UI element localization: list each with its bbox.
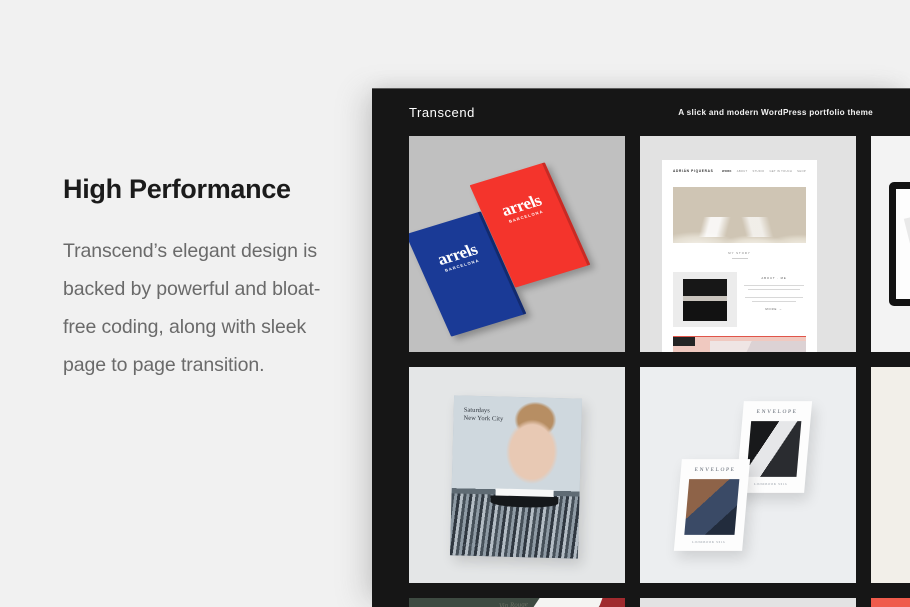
brand-logo[interactable]: Transcend (409, 105, 475, 120)
mockup-video-section (673, 336, 806, 352)
page-title: High Performance (63, 175, 333, 205)
portfolio-card-plain-light[interactable] (640, 598, 856, 607)
portfolio-grid: arrelsBARCELONA arrelsBARCELONA ADRIÁN P… (409, 136, 910, 607)
mockup-text-line (748, 289, 800, 290)
promo-text-block: High Performance Transcend’s elegant des… (63, 175, 333, 385)
poster-image-front (684, 479, 739, 535)
portfolio-card-coral-block[interactable] (871, 598, 910, 607)
promo-column: High Performance Transcend’s elegant des… (0, 0, 372, 607)
mockup-text-line (752, 301, 796, 302)
portfolio-card-magazine-cover[interactable]: SaturdaysNew York City Spring 2015 (409, 367, 625, 583)
mockup-hero-image (673, 187, 806, 243)
book-logo-blue: arrelsBARCELONA (416, 235, 501, 279)
mockup-text-line (745, 297, 803, 298)
mockup-nav-item-studio: STUDIO (753, 170, 765, 173)
monitor-screen (896, 189, 910, 299)
mockup-nav-item-shop: SHOP (797, 170, 806, 173)
portfolio-card-envelope-posters[interactable]: ENVELOPE LOOKBOOK SS16 ENVELOPE LOOKBOOK… (640, 367, 856, 583)
book-logo-red: arrelsBARCELONA (480, 186, 565, 230)
magazine-collar (495, 488, 553, 506)
showcase-header: Transcend A slick and modern WordPress p… (372, 88, 910, 136)
book-sublabel-red: BARCELONA (488, 203, 565, 230)
portfolio-showcase-panel: Transcend A slick and modern WordPress p… (372, 88, 910, 607)
coral-accent-block (871, 598, 910, 607)
portfolio-card-arrels-books[interactable]: arrelsBARCELONA arrelsBARCELONA (409, 136, 625, 352)
mockup-section-heading: ABOUT · ME (744, 276, 804, 280)
mockup-nav-item-contact: GET IN TOUCH (769, 170, 792, 173)
mockup-logo: ADRIÁN PIQUERAS (673, 169, 713, 173)
portfolio-card-monitor-mockup[interactable] (871, 136, 910, 352)
poster-image-back (746, 421, 801, 477)
flag-script-text: Vin Rouge (499, 600, 528, 607)
poster-footer-front: LOOKBOOK SS16 (674, 540, 743, 544)
poster-front: ENVELOPE LOOKBOOK SS16 (674, 459, 750, 551)
monitor-frame (889, 182, 910, 306)
hero-mountain-highlight (681, 217, 801, 237)
mockup-section-link: MORE → (744, 307, 804, 311)
mockup-thumbnail (673, 272, 737, 327)
poster-label-back: ENVELOPE (743, 409, 812, 415)
poster-label-front: ENVELOPE (681, 467, 750, 473)
mockup-nav-links: WORK ABOUT STUDIO GET IN TOUCH SHOP (722, 170, 806, 173)
mockup-nav-item-about: ABOUT (737, 170, 748, 173)
portfolio-card-flag-graphic[interactable]: Vin Rouge (409, 598, 625, 607)
mockup-thumbnail-art (683, 279, 727, 321)
mockup-text-line (744, 285, 804, 286)
magazine-title: SaturdaysNew York City (463, 407, 503, 424)
browser-page-mockup: ADRIÁN PIQUERAS WORK ABOUT STUDIO GET IN… (662, 160, 817, 352)
portfolio-card-website-mockup[interactable]: ADRIÁN PIQUERAS WORK ABOUT STUDIO GET IN… (640, 136, 856, 352)
mockup-navbar: ADRIÁN PIQUERAS WORK ABOUT STUDIO GET IN… (662, 160, 817, 182)
promo-description: Transcend’s elegant design is backed by … (63, 232, 333, 385)
mockup-hero-caption: MY STORY (662, 251, 817, 259)
header-tagline: A slick and modern WordPress portfolio t… (678, 108, 873, 117)
magazine-footer: Spring 2015 (461, 543, 483, 548)
magazine-object: SaturdaysNew York City Spring 2015 (450, 395, 582, 558)
mockup-nav-item-work: WORK (722, 170, 732, 173)
portfolio-card-cream-surface[interactable] (871, 367, 910, 583)
mockup-text-column: ABOUT · ME MORE → (744, 276, 804, 316)
book-sublabel-blue: BARCELONA (424, 252, 501, 279)
